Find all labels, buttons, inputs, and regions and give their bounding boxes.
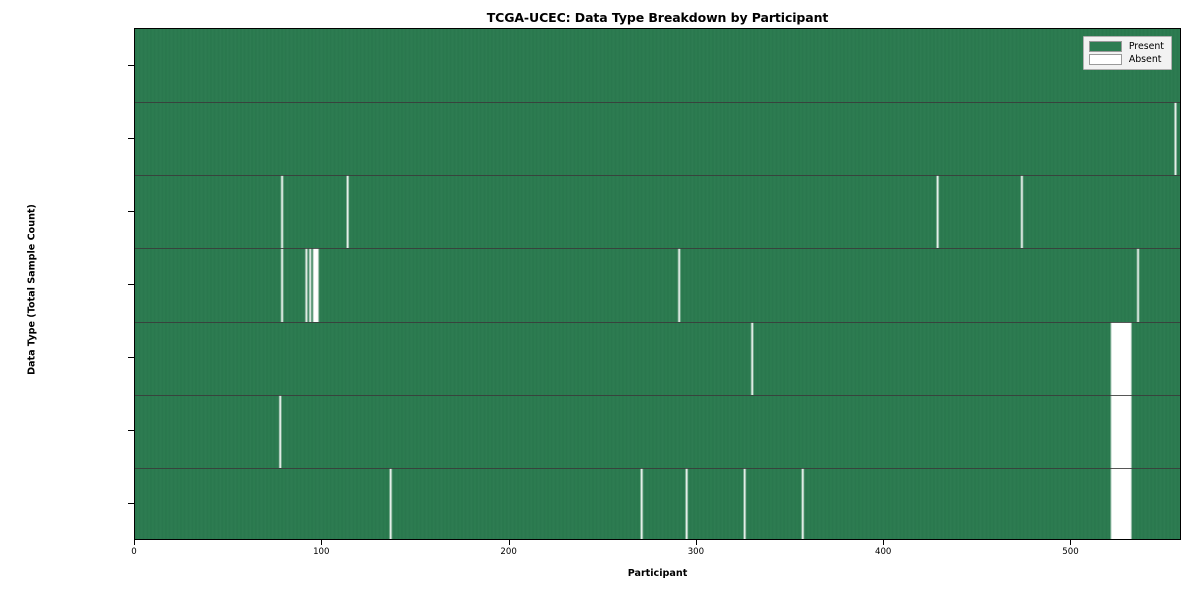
y-tick-mark — [128, 357, 134, 358]
legend-entry[interactable]: Present — [1089, 41, 1164, 52]
y-tick-mark — [128, 284, 134, 285]
x-tick-mark — [696, 540, 697, 545]
x-tick-label: 300 — [688, 547, 704, 557]
heatmap-row[interactable] — [135, 395, 1180, 468]
x-tick-mark — [321, 540, 322, 545]
legend-swatch — [1089, 54, 1122, 65]
legend-swatch — [1089, 41, 1122, 52]
row-separator — [135, 175, 1180, 176]
heatmap-row[interactable] — [135, 322, 1180, 395]
row-cells — [135, 102, 1180, 175]
x-tick-label: 200 — [500, 547, 516, 557]
x-axis-title: Participant — [134, 568, 1181, 579]
legend-entry[interactable]: Absent — [1089, 54, 1164, 65]
heatmap-row[interactable] — [135, 248, 1180, 321]
x-tick-label: 100 — [313, 547, 329, 557]
x-tick-label: 500 — [1062, 547, 1078, 557]
legend: PresentAbsent — [1083, 36, 1172, 70]
y-tick-mark — [128, 503, 134, 504]
y-tick-mark — [128, 65, 134, 66]
row-separator — [135, 248, 1180, 249]
row-cells — [135, 322, 1180, 395]
x-tick-mark — [883, 540, 884, 545]
row-separator — [135, 102, 1180, 103]
x-tick-mark — [134, 540, 135, 545]
x-tick-label: 400 — [875, 547, 891, 557]
row-cells — [135, 468, 1180, 540]
row-separator — [135, 468, 1180, 469]
legend-label: Present — [1129, 41, 1164, 52]
heatmap-row[interactable] — [135, 102, 1180, 175]
y-tick-mark — [128, 430, 134, 431]
y-tick-mark — [128, 211, 134, 212]
row-cells — [135, 175, 1180, 248]
x-tick-mark — [509, 540, 510, 545]
figure-canvas: TCGA-UCEC: Data Type Breakdown by Partic… — [0, 0, 1200, 600]
row-cells — [135, 29, 1180, 102]
legend-label: Absent — [1129, 54, 1162, 65]
heatmap-row[interactable] — [135, 468, 1180, 540]
row-separator — [135, 322, 1180, 323]
y-axis-title: Data Type (Total Sample Count) — [27, 140, 38, 440]
y-tick-mark — [128, 138, 134, 139]
page-title: TCGA-UCEC: Data Type Breakdown by Partic… — [134, 10, 1181, 25]
x-tick-label: 0 — [131, 547, 136, 557]
row-separator — [135, 395, 1180, 396]
row-cells — [135, 248, 1180, 321]
heatmap-plot-area[interactable]: PresentAbsent — [134, 28, 1181, 540]
heatmap-row[interactable] — [135, 175, 1180, 248]
heatmap-row[interactable] — [135, 29, 1180, 102]
row-cells — [135, 395, 1180, 468]
x-tick-mark — [1070, 540, 1071, 545]
